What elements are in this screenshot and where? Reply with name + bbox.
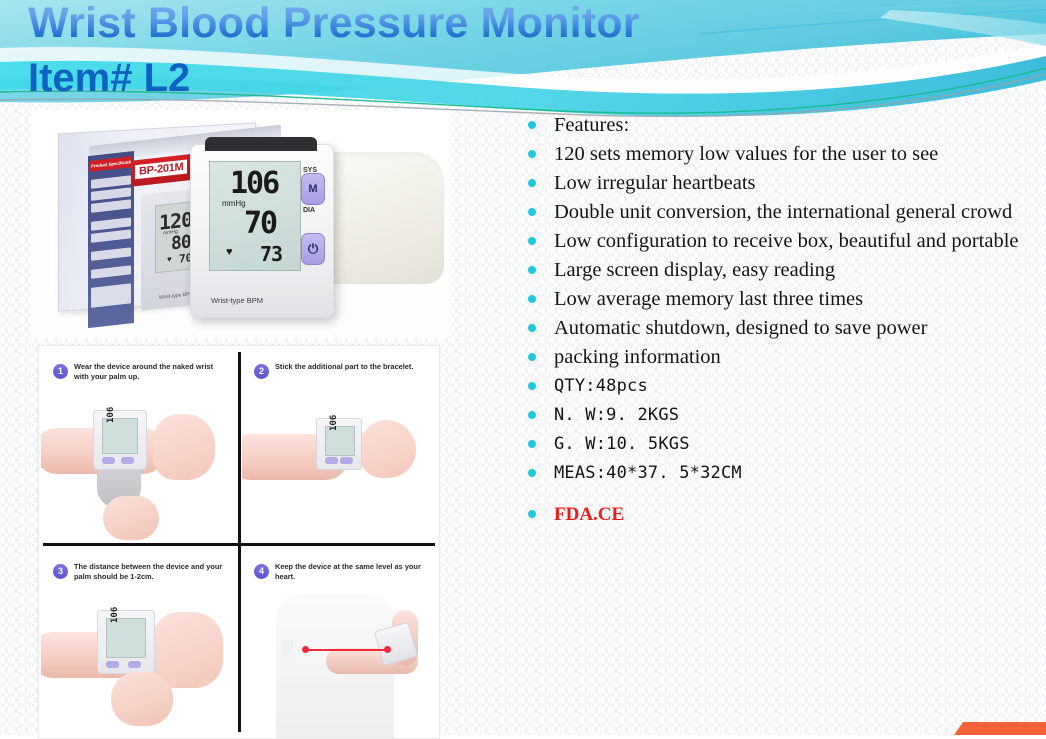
hand-illustration <box>153 414 215 480</box>
label-dia: DIA <box>303 207 315 214</box>
spec-row <box>91 247 131 260</box>
list-item-label: Low configuration to receive box, beauti… <box>554 228 1036 255</box>
box-heart-icon: ♥ <box>167 254 172 264</box>
step-caption: Keep the device at the same level as you… <box>275 562 427 581</box>
list-item-label: Large screen display, easy reading <box>554 257 1036 284</box>
hand-illustration <box>153 612 223 688</box>
spec-row <box>91 217 131 230</box>
worn-device: 106 <box>316 418 362 470</box>
assisting-hand <box>111 672 173 726</box>
bullet-icon <box>528 353 536 361</box>
shirt-graphic: ░░░░░░░░ <box>282 640 293 658</box>
list-item: Low average memory last three times <box>516 286 1036 313</box>
box-brand-text: Wrist-type BPM <box>159 291 194 301</box>
product-photo: Product Specification BP-201M Wrist-type… <box>30 110 450 338</box>
list-item: 120 sets memory low values for the user … <box>516 141 1036 168</box>
list-item: packing information <box>516 344 1036 371</box>
worn-device-reading: 106 <box>110 607 120 623</box>
item-number: Item# L2 <box>28 52 640 104</box>
bullet-icon <box>528 237 536 245</box>
bullet-icon <box>528 411 536 419</box>
hand-illustration <box>360 420 416 478</box>
list-item-label: FDA.CE <box>554 501 1036 528</box>
bp-monitor-device: 106 mmHg 70 ♥ 73 SYS DIA PUL /min M ⏻ Wr… <box>190 144 334 318</box>
list-item-label: Low average memory last three times <box>554 286 1036 313</box>
bullet-icon <box>528 150 536 158</box>
spec-row <box>91 229 131 242</box>
bullet-icon <box>528 469 536 477</box>
device-level-marker <box>384 646 391 653</box>
list-item: QTY:48pcs <box>516 373 1036 400</box>
worn-device-screen: 106 <box>106 618 146 658</box>
worn-device-button <box>340 457 353 464</box>
instruction-step-2: 2 Stick the additional part to the brace… <box>242 348 438 542</box>
box-spec-panel: Product Specification <box>88 151 134 328</box>
slide-title-group: Wrist Blood Pressure Monitor Item# L2 <box>28 0 640 104</box>
instruction-step-4: 4 Keep the device at the same level as y… <box>242 548 438 739</box>
device-brand-text: Wrist-type BPM <box>211 296 263 305</box>
worn-device-screen: 106 <box>325 426 355 456</box>
device-lcd-screen: 106 mmHg 70 ♥ 73 <box>209 161 301 271</box>
list-item-label: MEAS:40*37. 5*32CM <box>554 460 1036 487</box>
worn-device: 106 <box>97 610 155 674</box>
header-banner: Wrist Blood Pressure Monitor Item# L2 <box>0 0 1046 118</box>
spec-row <box>91 265 131 278</box>
list-item: Low configuration to receive box, beauti… <box>516 228 1036 255</box>
instruction-step-1: 1 Wear the device around the naked wrist… <box>41 348 237 542</box>
spec-row <box>91 283 131 307</box>
page-title: Wrist Blood Pressure Monitor <box>28 0 640 48</box>
bullet-icon <box>528 324 536 332</box>
spec-row <box>91 187 131 200</box>
step-caption: Stick the additional part to the bracele… <box>275 362 427 372</box>
list-item-label: packing information <box>554 344 1036 371</box>
instruction-grid: 1 Wear the device around the naked wrist… <box>38 345 440 739</box>
spec-row <box>91 175 131 188</box>
grid-divider-horizontal <box>43 543 435 546</box>
bullet-icon <box>528 382 536 390</box>
list-item: G. W:10. 5KGS <box>516 431 1036 458</box>
features-list: Features:120 sets memory low values for … <box>516 112 1036 530</box>
lcd-unit-label: mmHg <box>222 199 246 208</box>
worn-device-button <box>121 457 134 464</box>
bullet-icon <box>528 121 536 129</box>
worn-device-button <box>106 661 119 668</box>
assisting-hand <box>103 496 159 540</box>
step-caption: Wear the device around the naked wrist w… <box>74 362 226 381</box>
list-item-label: 120 sets memory low values for the user … <box>554 141 1036 168</box>
step-number-badge: 3 <box>53 564 68 579</box>
list-item: Automatic shutdown, designed to save pow… <box>516 315 1036 342</box>
list-item: MEAS:40*37. 5*32CM <box>516 460 1036 487</box>
list-item-label: Automatic shutdown, designed to save pow… <box>554 315 1036 342</box>
spec-panel-label: Product Specification <box>91 156 133 172</box>
worn-device-button <box>325 457 338 464</box>
worn-device-reading: 106 <box>329 415 339 431</box>
list-item-label: G. W:10. 5KGS <box>554 431 1036 458</box>
list-item: FDA.CE <box>516 501 1036 528</box>
bullet-icon <box>528 295 536 303</box>
list-item: Large screen display, easy reading <box>516 257 1036 284</box>
step-number-badge: 4 <box>254 564 269 579</box>
lcd-pulse-value: 73 <box>260 242 282 266</box>
heart-level-marker <box>302 646 309 653</box>
list-item-label: N. W:9. 2KGS <box>554 402 1036 429</box>
heart-level-line <box>306 649 388 651</box>
list-item: Low irregular heartbeats <box>516 170 1036 197</box>
step-number-badge: 1 <box>53 364 68 379</box>
memory-button[interactable]: M <box>301 173 325 205</box>
worn-device-button <box>128 661 141 668</box>
worn-device-reading: 106 <box>106 407 116 423</box>
bullet-icon <box>528 266 536 274</box>
list-item-label: Double unit conversion, the internationa… <box>554 199 1036 226</box>
bullet-icon <box>528 208 536 216</box>
list-item: Double unit conversion, the internationa… <box>516 199 1036 226</box>
list-spacer <box>516 489 1036 501</box>
bullet-icon <box>528 179 536 187</box>
lcd-sys-value: 106 <box>230 166 278 201</box>
device-top-cap <box>205 137 317 151</box>
worn-device-button <box>102 457 115 464</box>
list-item: N. W:9. 2KGS <box>516 402 1036 429</box>
list-item: Features: <box>516 112 1036 139</box>
step-number-badge: 2 <box>254 364 269 379</box>
orange-accent-bar <box>954 722 1046 735</box>
power-button[interactable]: ⏻ <box>301 233 325 265</box>
box-model-label: BP-201M <box>135 159 187 179</box>
worn-device: 106 <box>93 410 147 470</box>
bullet-icon <box>528 440 536 448</box>
worn-device-screen: 106 <box>102 418 138 454</box>
lcd-dia-value: 70 <box>244 206 276 241</box>
list-item-label: Features: <box>554 112 1036 139</box>
list-item-label: QTY:48pcs <box>554 373 1036 400</box>
bullet-icon <box>528 510 536 518</box>
step-caption: The distance between the device and your… <box>74 562 226 581</box>
list-item-label: Low irregular heartbeats <box>554 170 1036 197</box>
spec-row <box>91 199 131 212</box>
heart-icon: ♥ <box>226 246 233 258</box>
instruction-step-3: 3 The distance between the device and yo… <box>41 548 237 739</box>
grid-divider-vertical <box>238 352 241 732</box>
